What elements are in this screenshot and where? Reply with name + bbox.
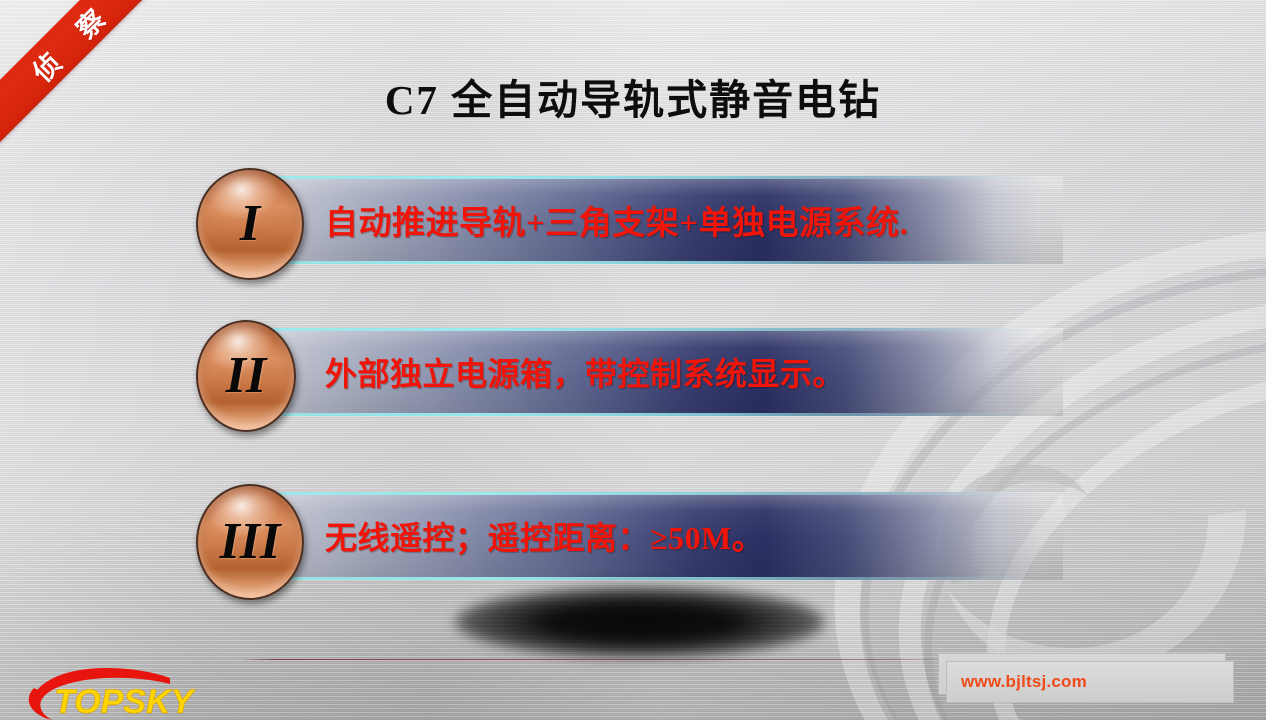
numeral-badge-2: II (196, 320, 296, 432)
topsky-logo: TOPSKY (18, 662, 233, 720)
bullet-row-2: II 外部独立电源箱，带控制系统显示。 (0, 320, 1266, 424)
numeral-badge-label: I (240, 198, 260, 250)
page-title: C7 全自动导轨式静音电钻 (0, 66, 1266, 126)
numeral-badge-label: III (220, 516, 281, 568)
url-plate[interactable]: www.bjltsj.com (946, 661, 1234, 703)
bullet-row-3: III 无线遥控；遥控距离：≥50M。 (0, 484, 1266, 588)
numeral-badge-label: II (226, 350, 266, 402)
bullet-text-3: 无线遥控；遥控距离：≥50M。 (325, 484, 764, 588)
bullet-text-1: 自动推进导轨+三角支架+单独电源系统. (325, 168, 908, 272)
slide-canvas: 侦 察 C7 全自动导轨式静音电钻 I 自动推进导轨+三角支架+单独电源系统. … (0, 0, 1266, 720)
svg-text:TOPSKY: TOPSKY (54, 683, 197, 720)
footer-divider-rule (245, 659, 961, 660)
numeral-badge-3: III (196, 484, 304, 600)
website-url: www.bjltsj.com (961, 672, 1087, 692)
bullet-text-2: 外部独立电源箱，带控制系统显示。 (325, 320, 845, 424)
numeral-badge-1: I (196, 168, 304, 280)
bullet-row-1: I 自动推进导轨+三角支架+单独电源系统. (0, 168, 1266, 272)
